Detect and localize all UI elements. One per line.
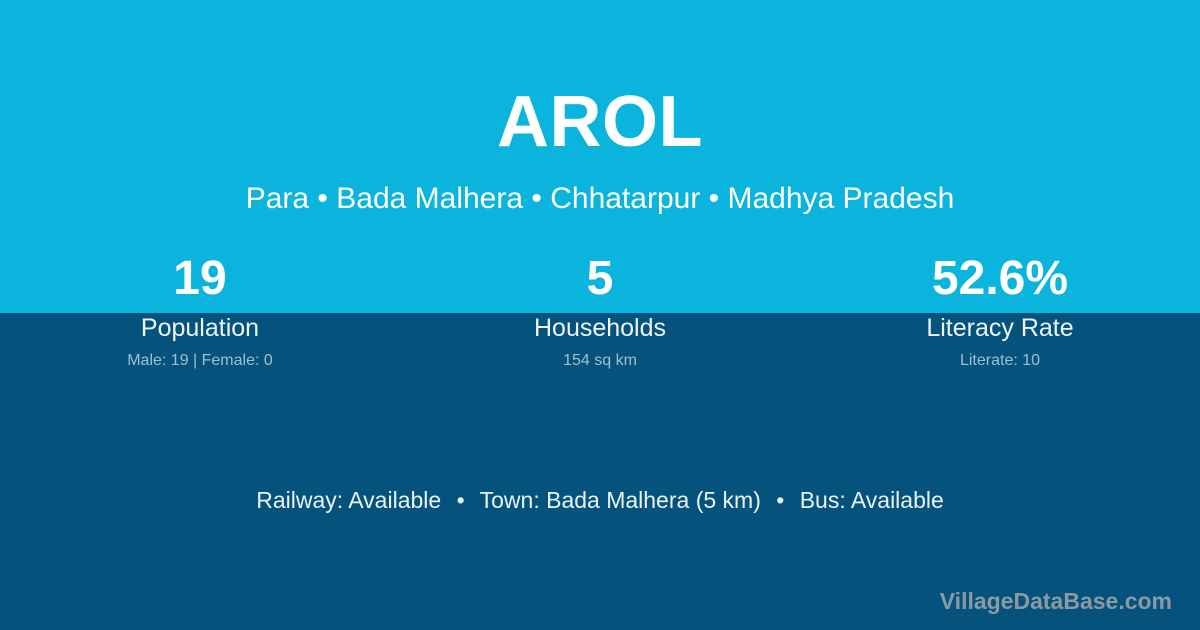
stats-row: 19 Population Male: 19 | Female: 0 5 Hou… bbox=[0, 252, 1200, 370]
stat-sub-population: Male: 19 | Female: 0 bbox=[0, 351, 400, 370]
village-info-card: AROL Para • Bada Malhera • Chhatarpur • … bbox=[0, 0, 1200, 630]
stat-value-literacy-rate: 52.6% bbox=[800, 252, 1200, 306]
infra-separator-1: • bbox=[448, 486, 474, 514]
infrastructure-line: Railway: Available • Town: Bada Malhera … bbox=[0, 486, 1200, 514]
stat-value-households: 5 bbox=[400, 252, 800, 306]
stat-label-population: Population bbox=[0, 314, 400, 342]
stat-sub-households: 154 sq km bbox=[400, 351, 800, 370]
page-title: AROL bbox=[0, 86, 1200, 158]
stat-population: 19 Population Male: 19 | Female: 0 bbox=[0, 252, 400, 370]
stat-label-households: Households bbox=[400, 314, 800, 342]
stat-value-population: 19 bbox=[0, 252, 400, 306]
infra-bus: Bus: Available bbox=[800, 487, 944, 513]
infra-town: Town: Bada Malhera (5 km) bbox=[480, 487, 761, 513]
site-watermark: VillageDataBase.com bbox=[940, 588, 1172, 614]
stat-sub-literacy-rate: Literate: 10 bbox=[800, 351, 1200, 370]
stat-literacy-rate: 52.6% Literacy Rate Literate: 10 bbox=[800, 252, 1200, 370]
breadcrumb: Para • Bada Malhera • Chhatarpur • Madhy… bbox=[0, 181, 1200, 217]
stat-label-literacy-rate: Literacy Rate bbox=[800, 314, 1200, 342]
infra-separator-2: • bbox=[767, 486, 793, 514]
infra-railway: Railway: Available bbox=[256, 487, 441, 513]
stat-households: 5 Households 154 sq km bbox=[400, 252, 800, 370]
